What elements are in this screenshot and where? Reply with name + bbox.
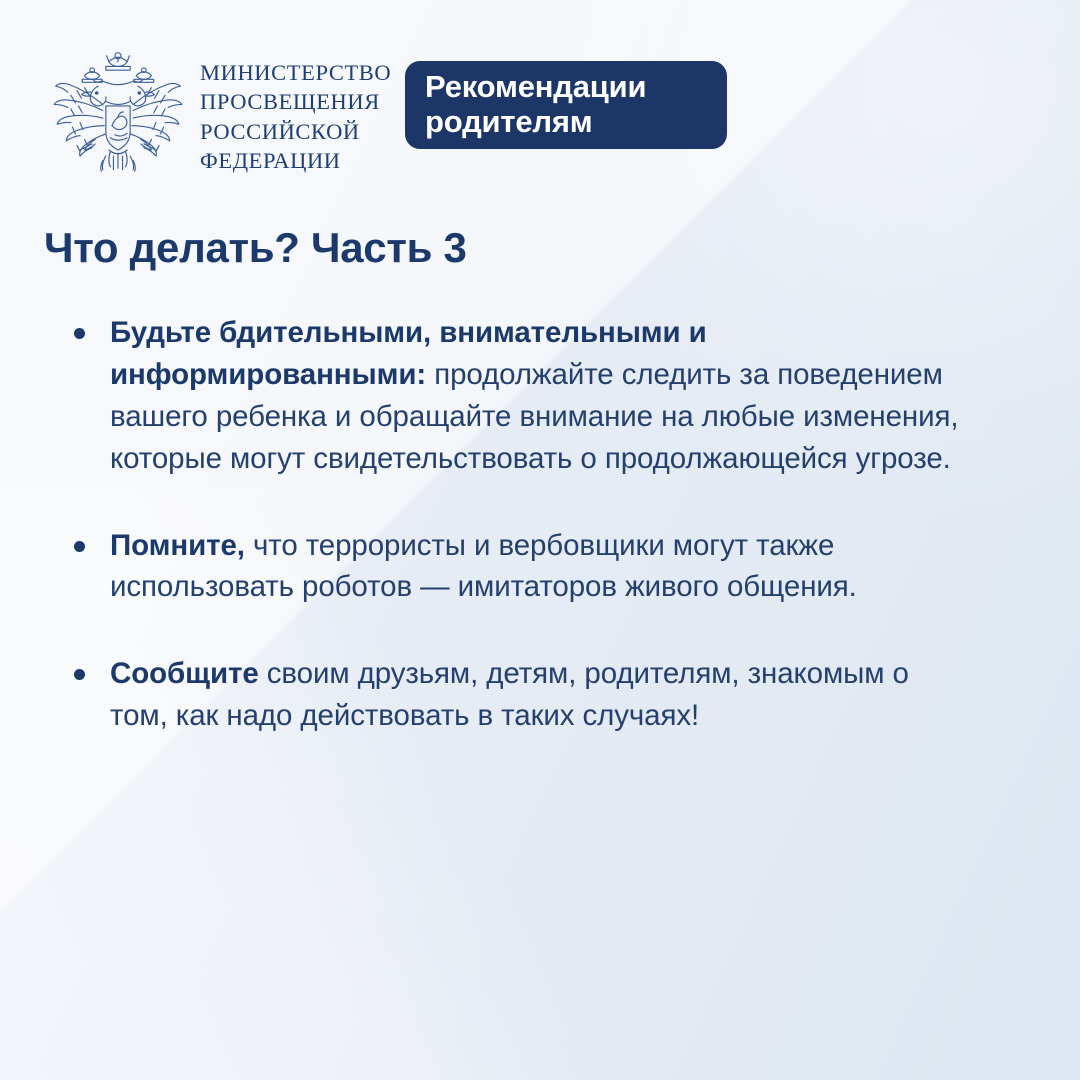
bullet-dot-icon [74, 541, 85, 552]
recommendations-badge: Рекомендации родителям [405, 61, 727, 149]
bullet-dot-icon [74, 669, 85, 680]
list-item: Сообщите своим друзьям, детям, родителям… [62, 653, 962, 737]
page-title: Что делать? Часть 3 [44, 224, 467, 272]
badge-line-2: родителям [425, 105, 707, 140]
badge-line-1: Рекомендации [425, 70, 707, 105]
list-item-lead: Помните, [110, 529, 245, 562]
ministry-line-2: ПРОСВЕЩЕНИЯ [200, 87, 391, 116]
bullet-dot-icon [74, 328, 85, 339]
poster-canvas: МИНИСТЕРСТВО ПРОСВЕЩЕНИЯ РОССИЙСКОЙ ФЕДЕ… [0, 0, 1080, 1080]
ministry-name: МИНИСТЕРСТВО ПРОСВЕЩЕНИЯ РОССИЙСКОЙ ФЕДЕ… [200, 58, 391, 175]
list-item: Помните, что террористы и вербовщики мог… [62, 525, 962, 609]
brand-header: МИНИСТЕРСТВО ПРОСВЕЩЕНИЯ РОССИЙСКОЙ ФЕДЕ… [42, 36, 391, 188]
list-item: Будьте бдительными, внимательными и инфо… [62, 312, 962, 480]
ministry-line-4: ФЕДЕРАЦИИ [200, 146, 391, 175]
ministry-line-3: РОССИЙСКОЙ [200, 117, 391, 146]
russian-double-headed-eagle-emblem-icon [42, 36, 194, 188]
recommendation-list: Будьте бдительными, внимательными и инфо… [62, 312, 962, 737]
list-item-lead: Сообщите [110, 657, 259, 690]
ministry-line-1: МИНИСТЕРСТВО [200, 58, 391, 87]
